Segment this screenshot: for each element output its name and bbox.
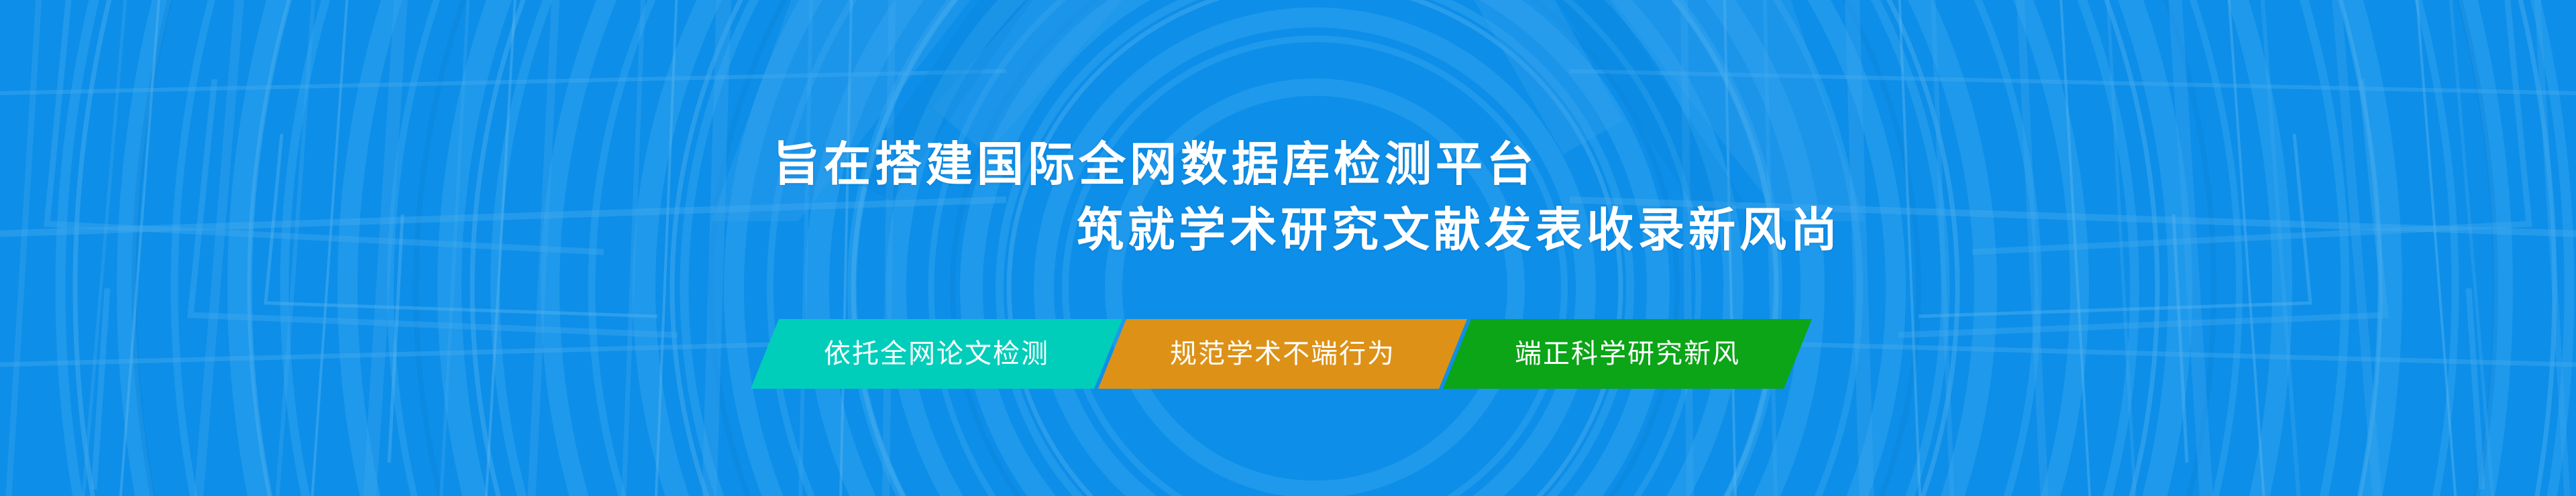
feature-badge-strip: 依托全网论文检测 规范学术不端行为 端正科学研究新风 <box>765 319 1811 389</box>
headline-line-2: 筑就学术研究文献发表收录新风尚 <box>1077 206 1841 253</box>
badge-item-quanwang-detection[interactable]: 依托全网论文检测 <box>751 319 1122 389</box>
headline-block: 旨在搭建国际全网数据库检测平台 筑就学术研究文献发表收录新风尚 <box>0 125 2576 292</box>
badge-item-research-ethos[interactable]: 端正科学研究新风 <box>1443 319 1812 389</box>
headline-line-1: 旨在搭建国际全网数据库检测平台 <box>773 141 1538 188</box>
badge-label: 端正科学研究新风 <box>1515 340 1740 367</box>
badge-item-academic-misconduct[interactable]: 规范学术不端行为 <box>1098 319 1467 389</box>
banner-hero: 旨在搭建国际全网数据库检测平台 筑就学术研究文献发表收录新风尚 依托全网论文检测… <box>0 0 2576 496</box>
badge-label: 规范学术不端行为 <box>1170 340 1395 367</box>
badge-label: 依托全网论文检测 <box>824 340 1049 367</box>
